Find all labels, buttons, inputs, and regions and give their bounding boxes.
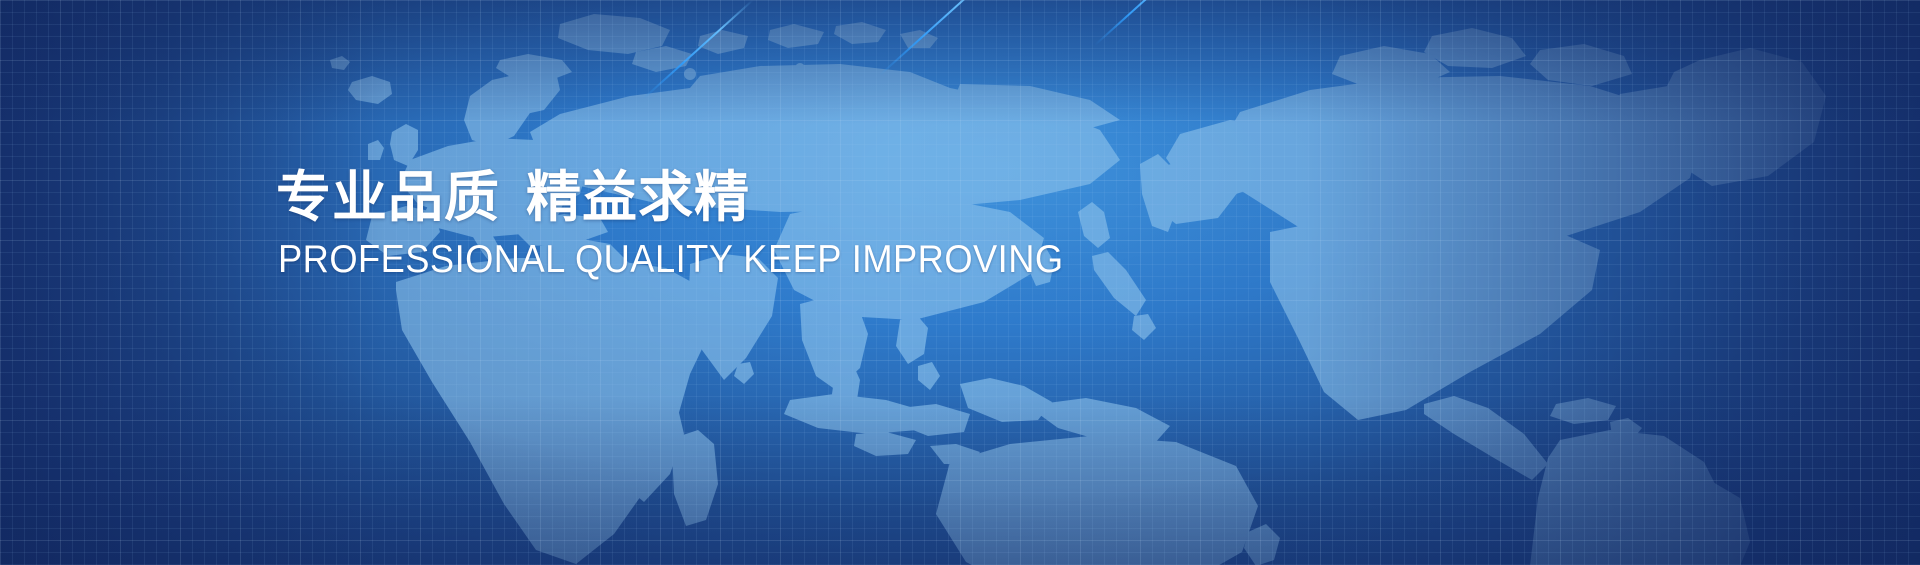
banner-subtitle: PROFESSIONAL QUALITY KEEP IMPROVING xyxy=(278,239,1064,282)
hero-banner: 专业品质精益求精 PROFESSIONAL QUALITY KEEP IMPRO… xyxy=(0,0,1920,565)
headline-phrase-2: 精益求精 xyxy=(526,165,750,229)
banner-headline: 专业品质精益求精 xyxy=(276,168,1123,227)
grid-overlay-coarse xyxy=(0,0,1920,565)
headline-phrase-1: 专业品质 xyxy=(276,165,500,229)
banner-copy: 专业品质精益求精 PROFESSIONAL QUALITY KEEP IMPRO… xyxy=(276,168,1123,282)
